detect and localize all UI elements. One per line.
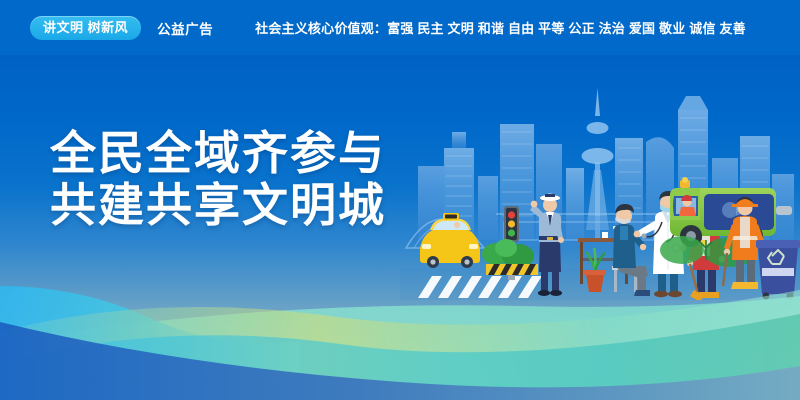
slogan-pill-badge[interactable]: 讲文明 树新风 <box>30 16 141 40</box>
city-illustration <box>400 70 800 300</box>
core-values-label: 社会主义核心价值观：富强 民主 文明 和谐 自由 平等 公正 法治 爱国 敬业 … <box>255 18 746 37</box>
poster-canvas: 讲文明 树新风 公益广告 社会主义核心价值观：富强 民主 文明 和谐 自由 平等… <box>0 0 800 400</box>
title-line-2: 共建共享文明城 <box>50 180 386 232</box>
wave-decoration <box>0 270 800 400</box>
top-bar: 讲文明 树新风 公益广告 社会主义核心价值观：富强 民主 文明 和谐 自由 平等… <box>0 0 800 55</box>
title-line-1: 全民全域齐参与 <box>50 128 386 180</box>
public-ad-label: 公益广告 <box>157 18 213 38</box>
poster-title: 全民全域齐参与 共建共享文明城 <box>50 128 386 232</box>
